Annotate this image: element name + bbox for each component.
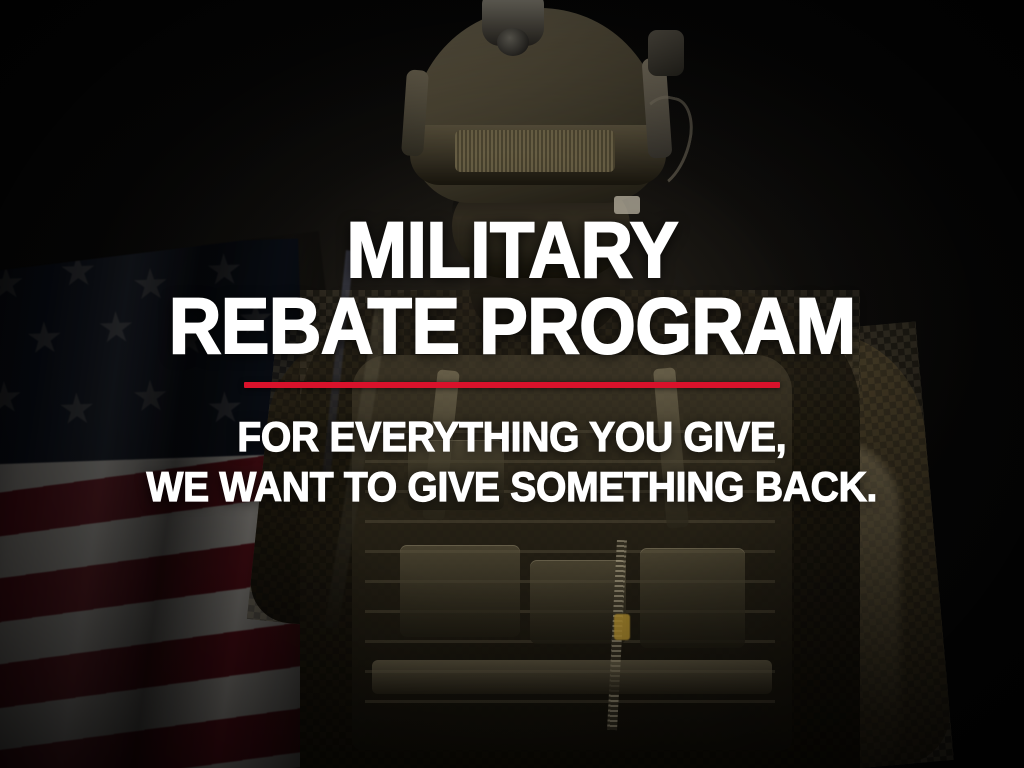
vest-pouch bbox=[408, 440, 504, 510]
poster-root: MILITARY REBATE PROGRAM FOR EVERYTHING Y… bbox=[0, 0, 1024, 768]
vest-pouch bbox=[400, 545, 520, 637]
soldier-figure bbox=[0, 0, 1024, 768]
helmet-counterweight-pouch bbox=[648, 30, 684, 76]
helmet-id-tag bbox=[614, 196, 640, 214]
vest-accessory bbox=[614, 614, 630, 640]
vest-pouch bbox=[640, 548, 745, 648]
vest-belt bbox=[372, 660, 772, 694]
helmet-velcro-panel bbox=[455, 130, 615, 172]
background-photo bbox=[0, 0, 1024, 768]
night-vision-knob bbox=[497, 28, 529, 56]
